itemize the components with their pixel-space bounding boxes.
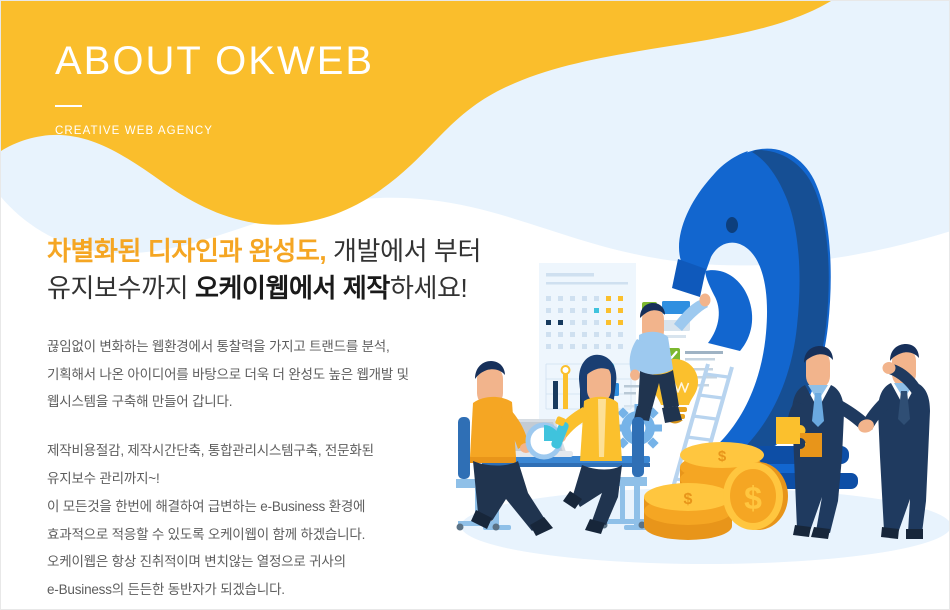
coin-standing: $ bbox=[723, 462, 788, 530]
page-subtitle: CREATIVE WEB AGENCY bbox=[55, 125, 374, 137]
paragraph-line: 효과적으로 적응할 수 있도록 오케이웹이 함께 하겠습니다. bbox=[47, 521, 517, 549]
headline-line-2-suffix: 하세요! bbox=[390, 273, 467, 303]
headline-line-1: 차별화된 디자인과 완성도, 개발에서 부터 bbox=[47, 233, 517, 270]
body-paragraph-2: 제작비용절감, 제작시간단축, 통합관리시스템구축, 전문화된 유지보수 관리까… bbox=[47, 437, 517, 604]
svg-text:$: $ bbox=[718, 448, 727, 465]
paragraph-line: 오케이웹은 항상 진취적이며 변치않는 열정으로 귀사의 bbox=[47, 548, 517, 576]
title-divider bbox=[55, 105, 82, 107]
paragraph-line: 유지보수 관리까지~! bbox=[47, 465, 517, 493]
paragraph-line: 이 모든것을 한번에 해결하여 급변하는 e-Business 환경에 bbox=[47, 493, 517, 521]
headline: 차별화된 디자인과 완성도, 개발에서 부터 유지보수까지 오케이웹에서 제작하… bbox=[47, 233, 517, 307]
about-okweb-page: ABOUT OKWEB CREATIVE WEB AGENCY 차별화된 디자인… bbox=[0, 0, 950, 610]
header-block: ABOUT OKWEB CREATIVE WEB AGENCY bbox=[55, 39, 374, 137]
body-paragraph-1: 끊임없이 변화하는 웹환경에서 통찰력을 가지고 트랜드를 분석, 기획해서 나… bbox=[47, 333, 517, 416]
paragraph-line: 기획해서 나온 아이디어를 바탕으로 더욱 더 완성도 높은 웹개발 및 bbox=[47, 361, 517, 389]
paragraph-line: e-Business의 든든한 동반자가 되겠습니다. bbox=[47, 576, 517, 604]
svg-text:$: $ bbox=[744, 480, 762, 516]
svg-text:$: $ bbox=[684, 491, 693, 508]
coin-column-front: $ bbox=[644, 483, 732, 540]
paragraph-line: 웹시스템을 구축해 만들어 갑니다. bbox=[47, 388, 517, 416]
headline-line-1-rest: 개발에서 부터 bbox=[326, 236, 481, 266]
copy-block: 차별화된 디자인과 완성도, 개발에서 부터 유지보수까지 오케이웹에서 제작하… bbox=[47, 233, 517, 604]
page-title: ABOUT OKWEB bbox=[55, 39, 374, 83]
paragraph-line: 끊임없이 변화하는 웹환경에서 통찰력을 가지고 트랜드를 분석, bbox=[47, 333, 517, 361]
hero-illustration: $ $ $ bbox=[456, 121, 950, 591]
headline-line-2: 유지보수까지 오케이웹에서 제작하세요! bbox=[47, 270, 517, 307]
paragraph-line: 제작비용절감, 제작시간단축, 통합관리시스템구축, 전문화된 bbox=[47, 437, 517, 465]
headline-line-2-prefix: 유지보수까지 bbox=[47, 273, 195, 303]
headline-accent: 차별화된 디자인과 완성도 bbox=[47, 236, 319, 266]
headline-strong: 오케이웹에서 제작 bbox=[195, 273, 390, 303]
